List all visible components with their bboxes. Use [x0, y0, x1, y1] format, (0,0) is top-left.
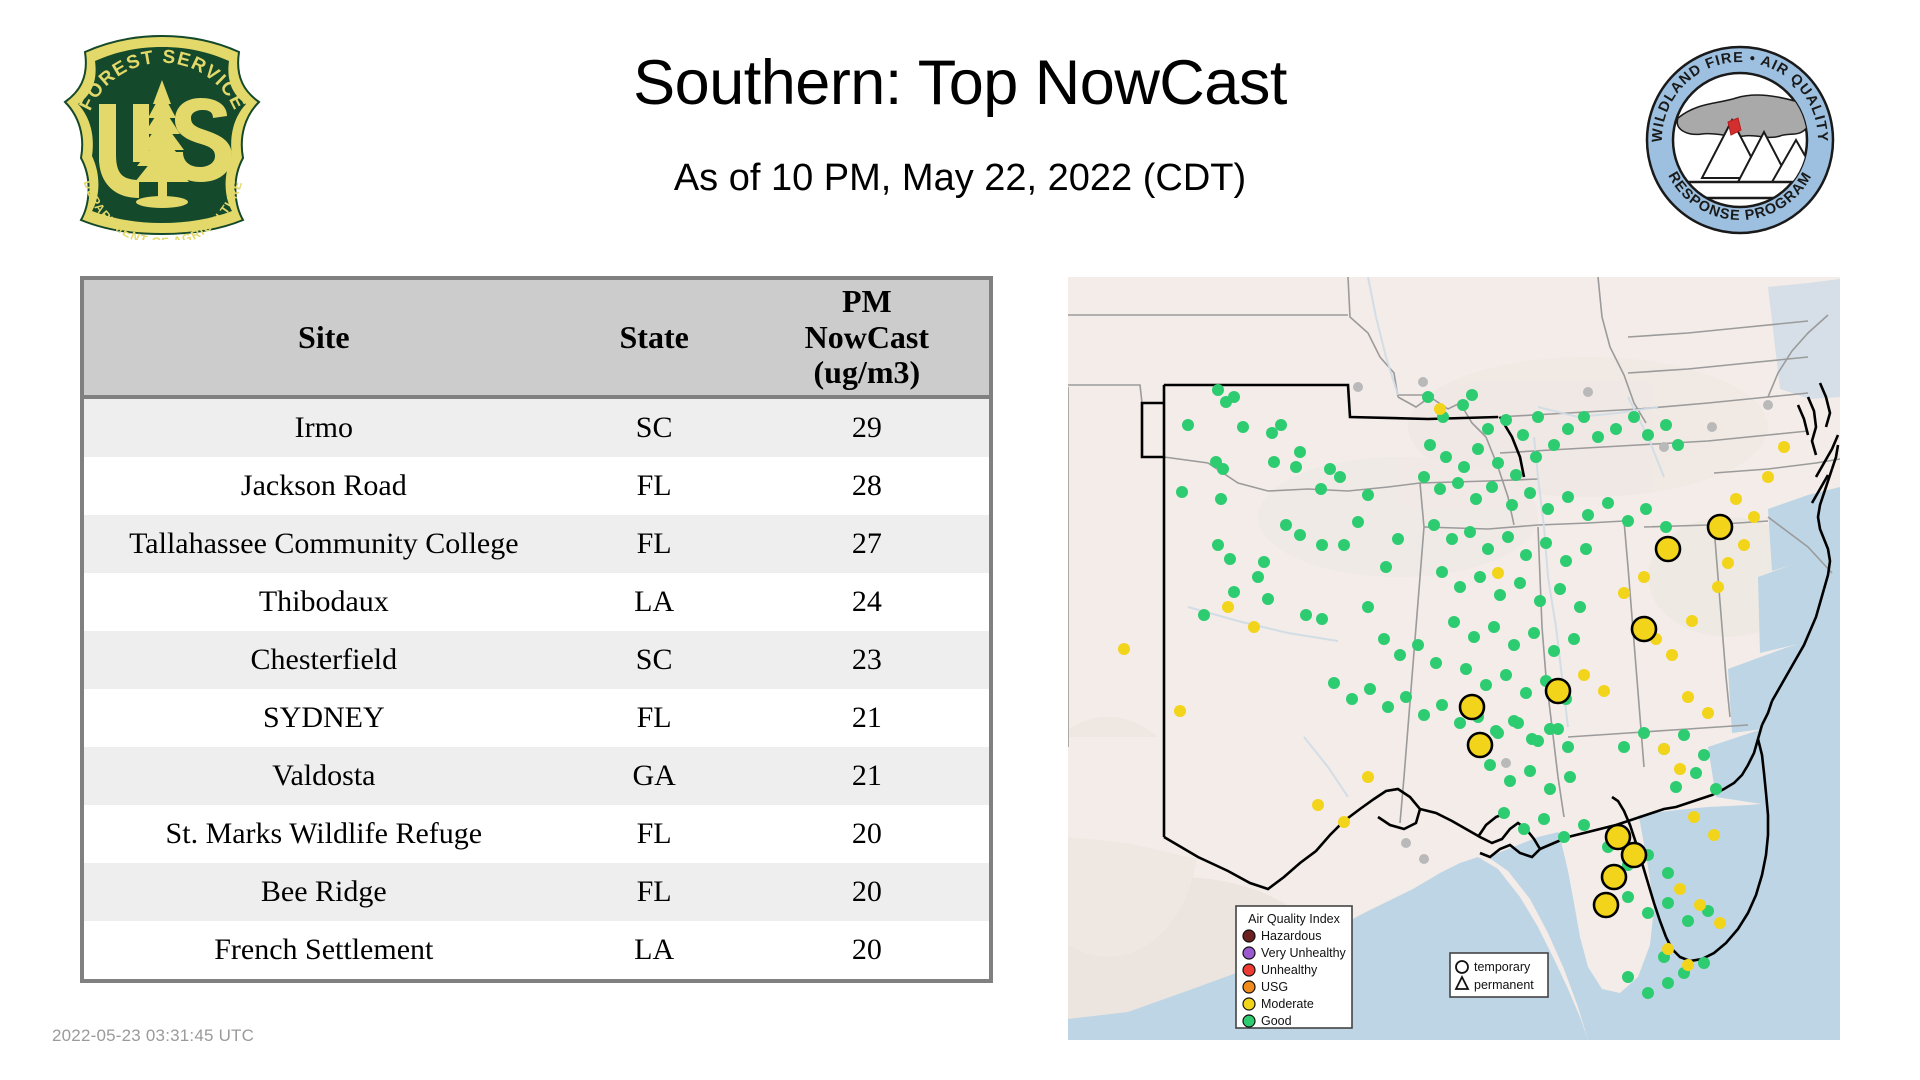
monitor-dot-good — [1640, 503, 1652, 515]
monitor-dot-good — [1492, 457, 1504, 469]
table-cell-state: SC — [564, 631, 745, 689]
symbol-legend-temporary-label: temporary — [1474, 960, 1531, 974]
monitor-dot-moderate — [1598, 685, 1610, 697]
monitor-dot-good — [1560, 555, 1572, 567]
monitor-dot-good — [1364, 683, 1376, 695]
monitor-dot-good — [1524, 765, 1536, 777]
monitor-dot-good — [1217, 463, 1229, 475]
monitor-dot-good — [1562, 741, 1574, 753]
table-cell-state: FL — [564, 689, 745, 747]
monitor-dot-moderate — [1174, 705, 1186, 717]
monitor-dot-good — [1622, 971, 1634, 983]
monitor-dot-top-site[interactable] — [1594, 893, 1618, 917]
monitor-dot-good — [1212, 539, 1224, 551]
monitor-dot-moderate — [1708, 829, 1720, 841]
monitor-dot-good — [1682, 915, 1694, 927]
monitor-dot-good — [1482, 543, 1494, 555]
table-cell-state: SC — [564, 397, 745, 457]
monitor-dot-good — [1710, 783, 1722, 795]
monitor-dot-good — [1266, 427, 1278, 439]
monitor-dot-good — [1300, 609, 1312, 621]
monitor-dot-good — [1324, 463, 1336, 475]
monitor-dot-good — [1454, 717, 1466, 729]
column-header-state-label: State — [619, 319, 688, 355]
column-header-state: State — [564, 280, 745, 397]
monitor-dot-top-site[interactable] — [1656, 537, 1680, 561]
monitor-dot-good — [1275, 419, 1287, 431]
monitor-dot-good — [1618, 741, 1630, 753]
table-cell-pm: 29 — [745, 397, 989, 457]
monitor-dot-good — [1378, 633, 1390, 645]
monitor-dot-good — [1362, 489, 1374, 501]
monitor-dot-moderate — [1694, 899, 1706, 911]
monitor-dot-good — [1228, 586, 1240, 598]
monitor-dot-moderate — [1338, 816, 1350, 828]
monitor-dot-good — [1642, 429, 1654, 441]
monitor-dot-good — [1574, 601, 1586, 613]
monitor-dot-good — [1642, 987, 1654, 999]
monitor-dot-moderate — [1638, 571, 1650, 583]
monitor-dot-good — [1237, 421, 1249, 433]
monitor-dot-good — [1690, 767, 1702, 779]
table-cell-site: Tallahassee Community College — [84, 515, 564, 573]
monitor-dot-moderate — [1712, 581, 1724, 593]
monitor-dot-good — [1468, 631, 1480, 643]
table-cell-pm: 27 — [745, 515, 989, 573]
monitor-dot-good — [1258, 556, 1270, 568]
monitor-dot-moderate — [1578, 669, 1590, 681]
aqi-legend-label: Very Unhealthy — [1261, 946, 1347, 960]
monitor-dot-good — [1510, 469, 1522, 481]
table-cell-pm: 21 — [745, 689, 989, 747]
monitor-dot-good — [1446, 533, 1458, 545]
aqi-legend-swatch — [1243, 1015, 1255, 1027]
column-header-pm-line3: (ug/m3) — [745, 355, 989, 391]
aqi-legend-label: Moderate — [1261, 997, 1314, 1011]
monitor-dot-good — [1428, 519, 1440, 531]
monitor-dot-moderate — [1362, 771, 1374, 783]
usfs-shield-logo: FOREST SERVICE DEPARTMENT OF AGRICULTURE — [55, 30, 270, 240]
table-header-row: Site State PM NowCast (ug/m3) — [84, 280, 989, 397]
monitor-dot-top-site[interactable] — [1460, 695, 1484, 719]
monitor-dot-moderate — [1730, 493, 1742, 505]
monitor-dot-good — [1592, 431, 1604, 443]
monitor-dot-good — [1316, 539, 1328, 551]
monitor-dot-good — [1480, 679, 1492, 691]
monitor-dot-good — [1315, 483, 1327, 495]
monitor-dot-good — [1224, 553, 1236, 565]
table-cell-site: Chesterfield — [84, 631, 564, 689]
table-row: IrmoSC29 — [84, 397, 989, 457]
monitor-dot-good — [1504, 775, 1516, 787]
monitor-dot-good — [1434, 483, 1446, 495]
monitor-dot-moderate — [1248, 621, 1260, 633]
monitor-dot-good — [1628, 411, 1640, 423]
table-cell-pm: 23 — [745, 631, 989, 689]
monitor-dot-good — [1562, 423, 1574, 435]
aqi-legend-swatch — [1243, 981, 1255, 993]
monitor-dot-good — [1228, 391, 1240, 403]
monitor-dot-good — [1578, 411, 1590, 423]
monitor-dot-good — [1670, 781, 1682, 793]
monitor-dot-good — [1422, 391, 1434, 403]
monitor-dot-good — [1490, 725, 1502, 737]
table-cell-site: Bee Ridge — [84, 863, 564, 921]
monitor-dot-good — [1460, 663, 1472, 675]
monitor-dot-moderate — [1686, 615, 1698, 627]
monitor-dot-good — [1448, 616, 1460, 628]
monitor-dot-good — [1520, 687, 1532, 699]
monitor-dot-good — [1578, 819, 1590, 831]
table-row: Tallahassee Community CollegeFL27 — [84, 515, 989, 573]
monitor-dot-good — [1530, 451, 1542, 463]
monitor-dot-good — [1412, 639, 1424, 651]
monitor-dot-nodata — [1419, 854, 1429, 864]
monitor-dot-moderate — [1702, 707, 1714, 719]
monitor-dot-good — [1294, 446, 1306, 458]
monitor-dot-good — [1486, 481, 1498, 493]
monitor-dot-good — [1662, 897, 1674, 909]
table-row: ChesterfieldSC23 — [84, 631, 989, 689]
monitor-dot-good — [1334, 471, 1346, 483]
aqi-legend-swatch — [1243, 947, 1255, 959]
monitor-dot-good — [1457, 399, 1469, 411]
footer-timestamp: 2022-05-23 03:31:45 UTC — [52, 1026, 254, 1046]
monitor-dot-good — [1660, 419, 1672, 431]
nowcast-table: Site State PM NowCast (ug/m3) IrmoSC29Ja… — [84, 280, 989, 979]
table-cell-site: French Settlement — [84, 921, 564, 979]
table-cell-site: Irmo — [84, 397, 564, 457]
monitor-dot-good — [1484, 759, 1496, 771]
monitor-dot-good — [1262, 593, 1274, 605]
monitor-dot-good — [1280, 519, 1292, 531]
table-cell-state: LA — [564, 573, 745, 631]
monitor-dot-moderate — [1714, 917, 1726, 929]
table-row: ValdostaGA21 — [84, 747, 989, 805]
monitor-dot-top-site[interactable] — [1708, 515, 1732, 539]
monitor-dot-good — [1182, 419, 1194, 431]
column-header-pm-line2: NowCast — [745, 320, 989, 356]
monitor-dot-good — [1430, 657, 1442, 669]
monitor-dot-good — [1352, 516, 1364, 528]
monitor-dot-good — [1418, 709, 1430, 721]
monitor-dot-good — [1252, 571, 1264, 583]
monitor-dot-good — [1498, 807, 1510, 819]
table-row: ThibodauxLA24 — [84, 573, 989, 631]
monitor-dot-good — [1424, 439, 1436, 451]
monitor-dot-moderate — [1658, 743, 1670, 755]
table-row: St. Marks Wildlife RefugeFL20 — [84, 805, 989, 863]
table-cell-state: GA — [564, 747, 745, 805]
monitor-dot-good — [1494, 589, 1506, 601]
monitor-dot-good — [1268, 456, 1280, 468]
monitor-dot-good — [1568, 633, 1580, 645]
table-row: SYDNEYFL21 — [84, 689, 989, 747]
monitor-dot-good — [1672, 439, 1684, 451]
column-header-site-label: Site — [298, 319, 350, 355]
monitor-dot-good — [1642, 907, 1654, 919]
monitor-dot-good — [1392, 533, 1404, 545]
monitor-dot-good — [1562, 491, 1574, 503]
monitor-dot-good — [1538, 813, 1550, 825]
monitor-dot-good — [1542, 503, 1554, 515]
monitor-dot-good — [1482, 423, 1494, 435]
table-row: Bee RidgeFL20 — [84, 863, 989, 921]
table-cell-pm: 20 — [745, 921, 989, 979]
monitor-dot-moderate — [1682, 691, 1694, 703]
monitor-dot-good — [1534, 595, 1546, 607]
monitor-dot-good — [1610, 423, 1622, 435]
table-cell-site: Jackson Road — [84, 457, 564, 515]
monitor-dot-moderate — [1722, 557, 1734, 569]
monitor-dot-good — [1472, 443, 1484, 455]
monitor-dot-good — [1698, 749, 1710, 761]
monitor-dot-good — [1517, 429, 1529, 441]
monitor-dot-good — [1698, 957, 1710, 969]
monitor-dot-good — [1464, 526, 1476, 538]
monitor-dot-moderate — [1674, 883, 1686, 895]
page-subtitle: As of 10 PM, May 22, 2022 (CDT) — [300, 158, 1620, 200]
table-cell-state: FL — [564, 515, 745, 573]
monitor-dot-top-site[interactable] — [1468, 733, 1492, 757]
monitor-dot-nodata — [1659, 442, 1669, 452]
monitor-dot-moderate — [1748, 511, 1760, 523]
table-cell-site: Thibodaux — [84, 573, 564, 631]
table-cell-pm: 28 — [745, 457, 989, 515]
monitor-dot-moderate — [1492, 567, 1504, 579]
monitor-dot-nodata — [1401, 838, 1411, 848]
monitor-dot-good — [1526, 733, 1538, 745]
monitor-dot-good — [1602, 497, 1614, 509]
monitor-dot-good — [1290, 461, 1302, 473]
monitor-dot-good — [1440, 451, 1452, 463]
column-header-pm-line1: PM — [745, 284, 989, 320]
aqi-legend-swatch — [1243, 930, 1255, 942]
monitor-dot-good — [1660, 521, 1672, 533]
monitor-dot-good — [1554, 583, 1566, 595]
monitor-dot-good — [1662, 977, 1674, 989]
monitor-dot-good — [1474, 571, 1486, 583]
aqi-legend-label: Unhealthy — [1261, 963, 1318, 977]
monitor-dot-good — [1488, 621, 1500, 633]
page-title: Southern: Top NowCast — [300, 50, 1620, 116]
table-row: Jackson RoadFL28 — [84, 457, 989, 515]
aqi-legend-label: Good — [1261, 1014, 1292, 1028]
monitor-dot-good — [1176, 486, 1188, 498]
monitor-dot-good — [1548, 439, 1560, 451]
monitor-dot-moderate — [1738, 539, 1750, 551]
aqi-legend-title: Air Quality Index — [1248, 912, 1340, 926]
monitor-dot-good — [1514, 577, 1526, 589]
monitor-dot-good — [1540, 537, 1552, 549]
monitor-dot-good — [1316, 613, 1328, 625]
monitor-dot-nodata — [1501, 758, 1511, 768]
monitor-dot-good — [1544, 783, 1556, 795]
air-quality-map[interactable]: Air Quality Index HazardousVery Unhealth… — [1068, 277, 1840, 1040]
monitor-dot-moderate — [1618, 587, 1630, 599]
nowcast-table-container: Site State PM NowCast (ug/m3) IrmoSC29Ja… — [80, 276, 993, 983]
monitor-dot-nodata — [1763, 400, 1773, 410]
symbol-legend: temporary permanent — [1450, 953, 1548, 997]
monitor-dot-good — [1198, 609, 1210, 621]
monitor-dot-good — [1500, 414, 1512, 426]
title-block: Southern: Top NowCast As of 10 PM, May 2… — [300, 50, 1620, 200]
monitor-dot-nodata — [1353, 382, 1363, 392]
monitor-dot-moderate — [1688, 811, 1700, 823]
monitor-dot-good — [1564, 771, 1576, 783]
monitor-dot-moderate — [1434, 403, 1446, 415]
column-header-site: Site — [84, 280, 564, 397]
table-cell-state: FL — [564, 457, 745, 515]
monitor-dot-good — [1452, 477, 1464, 489]
monitor-dot-good — [1436, 699, 1448, 711]
monitor-dot-good — [1528, 627, 1540, 639]
column-header-pm-nowcast: PM NowCast (ug/m3) — [745, 280, 989, 397]
table-cell-state: FL — [564, 863, 745, 921]
table-cell-pm: 24 — [745, 573, 989, 631]
monitor-dot-good — [1466, 389, 1478, 401]
table-cell-pm: 20 — [745, 863, 989, 921]
monitor-dot-top-site[interactable] — [1546, 679, 1570, 703]
monitor-dot-good — [1500, 669, 1512, 681]
monitor-dot-nodata — [1707, 422, 1717, 432]
monitor-dot-good — [1362, 601, 1374, 613]
monitor-dot-moderate — [1662, 943, 1674, 955]
monitor-dot-good — [1382, 701, 1394, 713]
monitor-dot-good — [1622, 891, 1634, 903]
monitor-dot-moderate — [1682, 959, 1694, 971]
monitor-dot-good — [1506, 499, 1518, 511]
monitor-dot-good — [1662, 867, 1674, 879]
monitor-dot-good — [1380, 561, 1392, 573]
monitor-dot-good — [1294, 529, 1306, 541]
monitor-dot-good — [1508, 715, 1520, 727]
monitor-dot-good — [1346, 693, 1358, 705]
monitor-dot-good — [1548, 645, 1560, 657]
table-cell-site: St. Marks Wildlife Refuge — [84, 805, 564, 863]
monitor-dot-good — [1394, 649, 1406, 661]
aqi-legend-label: Hazardous — [1261, 929, 1321, 943]
monitor-dot-good — [1212, 384, 1224, 396]
monitor-dot-nodata — [1418, 377, 1428, 387]
aqi-legend-label: USG — [1261, 980, 1288, 994]
monitor-dot-good — [1558, 831, 1570, 843]
monitor-dot-good — [1502, 531, 1514, 543]
monitor-dot-good — [1622, 515, 1634, 527]
monitor-dot-good — [1544, 723, 1556, 735]
monitor-dot-good — [1580, 543, 1592, 555]
monitor-dot-good — [1678, 729, 1690, 741]
monitor-dot-top-site[interactable] — [1602, 865, 1626, 889]
table-body: IrmoSC29Jackson RoadFL28Tallahassee Comm… — [84, 397, 989, 979]
monitor-dot-good — [1418, 471, 1430, 483]
table-cell-site: Valdosta — [84, 747, 564, 805]
table-cell-pm: 21 — [745, 747, 989, 805]
monitor-dot-top-site[interactable] — [1632, 617, 1656, 641]
monitor-dot-nodata — [1583, 387, 1593, 397]
table-cell-site: SYDNEY — [84, 689, 564, 747]
monitor-dot-good — [1520, 549, 1532, 561]
monitor-dot-good — [1582, 509, 1594, 521]
aqi-legend-swatch — [1243, 998, 1255, 1010]
monitor-dot-good — [1524, 487, 1536, 499]
table-header: Site State PM NowCast (ug/m3) — [84, 280, 989, 397]
symbol-legend-permanent-label: permanent — [1474, 978, 1534, 992]
monitor-dot-good — [1338, 539, 1350, 551]
monitor-dot-moderate — [1666, 649, 1678, 661]
table-cell-pm: 20 — [745, 805, 989, 863]
monitor-dot-moderate — [1778, 441, 1790, 453]
monitor-dot-good — [1215, 493, 1227, 505]
monitor-dot-good — [1518, 823, 1530, 835]
monitor-dot-good — [1454, 581, 1466, 593]
aqi-legend-swatch — [1243, 964, 1255, 976]
monitor-dot-good — [1508, 639, 1520, 651]
monitor-dot-moderate — [1674, 763, 1686, 775]
monitor-dot-moderate — [1222, 601, 1234, 613]
monitor-dot-good — [1532, 411, 1544, 423]
aqi-legend: Air Quality Index HazardousVery Unhealth… — [1236, 906, 1352, 1028]
table-cell-state: LA — [564, 921, 745, 979]
monitor-dot-good — [1400, 691, 1412, 703]
monitor-dot-moderate — [1118, 643, 1130, 655]
monitor-dot-good — [1638, 727, 1650, 739]
monitor-dot-top-site[interactable] — [1622, 843, 1646, 867]
monitor-dot-moderate — [1762, 471, 1774, 483]
monitor-dot-good — [1470, 493, 1482, 505]
monitor-dot-good — [1436, 566, 1448, 578]
table-row: French SettlementLA20 — [84, 921, 989, 979]
monitor-dot-good — [1458, 461, 1470, 473]
monitor-dot-good — [1328, 677, 1340, 689]
monitor-dot-moderate — [1312, 799, 1324, 811]
wfaqrp-logo: WILDLAND FIRE • AIR QUALITY RESPONSE PRO… — [1640, 40, 1840, 240]
table-cell-state: FL — [564, 805, 745, 863]
